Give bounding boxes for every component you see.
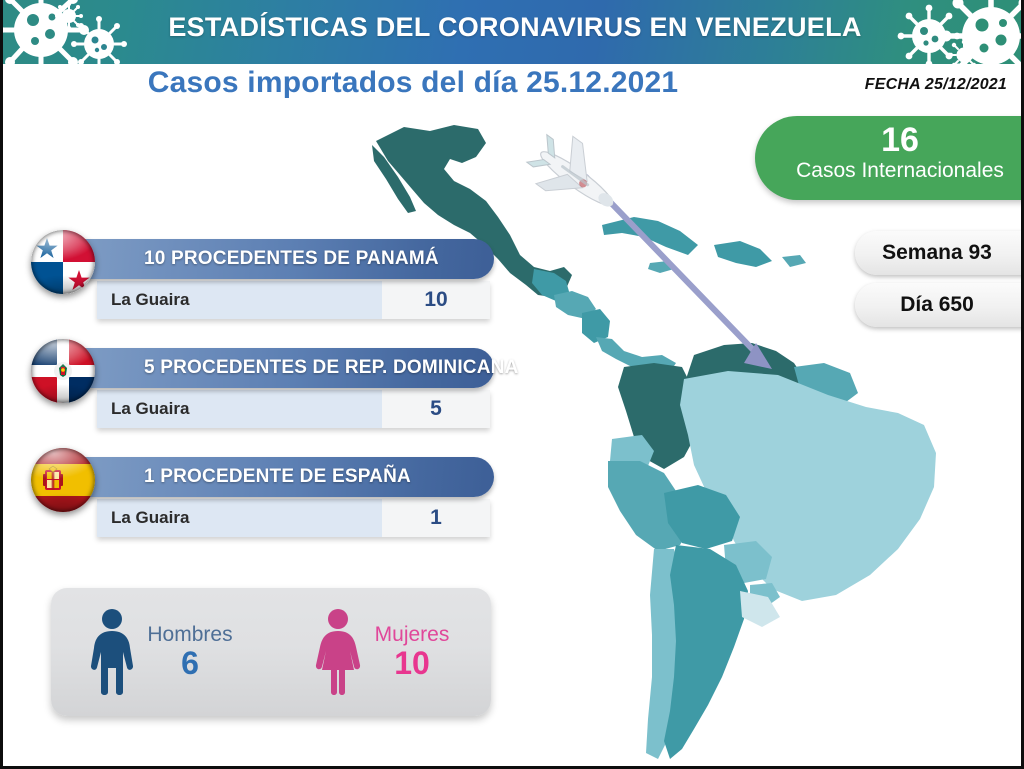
gender-text-male: Hombres 6 bbox=[147, 623, 232, 681]
country-bar-dominican-republic: 5 PROCEDENTES DE REP. DOMINICANA bbox=[79, 348, 494, 388]
day-badge: Día 650 bbox=[855, 283, 1024, 327]
map-hispaniola bbox=[714, 241, 772, 267]
gender-statistics-panel: Hombres 6 Mujeres 10 bbox=[51, 588, 491, 716]
coronavirus-icon bbox=[949, 40, 979, 64]
international-cases-number: 16 bbox=[755, 122, 1024, 158]
spain-flag-icon bbox=[31, 448, 95, 512]
state-row: La Guaira 10 bbox=[97, 281, 490, 319]
page-title: ESTADÍSTICAS DEL CORONAVIRUS EN VENEZUEL… bbox=[3, 12, 1024, 43]
gender-cell-female: Mujeres 10 bbox=[271, 608, 491, 696]
panama-flag-icon bbox=[31, 230, 95, 294]
country-bar-spain: 1 PROCEDENTE DE ESPAÑA bbox=[79, 457, 494, 497]
header-banner: ESTADÍSTICAS DEL CORONAVIRUS EN VENEZUEL… bbox=[3, 0, 1024, 64]
country-bar-panama: 10 PROCEDENTES DE PANAMÁ bbox=[79, 239, 494, 279]
country-bar-label: 1 PROCEDENTE DE ESPAÑA bbox=[144, 466, 411, 488]
arrow-to-venezuela-icon bbox=[586, 177, 772, 369]
gender-label-female: Mujeres bbox=[375, 623, 450, 646]
international-cases-box: 16 Casos Internacionales bbox=[755, 116, 1024, 200]
map-nicaragua bbox=[582, 309, 610, 343]
state-count: 10 bbox=[382, 281, 490, 319]
map-country-argentina bbox=[664, 545, 748, 759]
male-figure-icon bbox=[89, 608, 135, 696]
state-name: La Guaira bbox=[97, 390, 382, 428]
date-label: FECHA 25/12/2021 bbox=[865, 76, 1007, 94]
state-row: La Guaira 1 bbox=[97, 499, 490, 537]
week-badge: Semana 93 bbox=[855, 231, 1024, 275]
female-figure-icon bbox=[313, 608, 363, 696]
gender-value-male: 6 bbox=[147, 646, 232, 681]
subtitle: Casos importados del día 25.12.2021 bbox=[3, 66, 823, 100]
gender-cell-male: Hombres 6 bbox=[51, 608, 271, 696]
country-bar-label: 10 PROCEDENTES DE PANAMÁ bbox=[144, 248, 439, 270]
gender-value-female: 10 bbox=[375, 646, 450, 681]
state-row: La Guaira 5 bbox=[97, 390, 490, 428]
infographic-poster: ESTADÍSTICAS DEL CORONAVIRUS EN VENEZUEL… bbox=[0, 0, 1024, 769]
gender-text-female: Mujeres 10 bbox=[375, 623, 450, 681]
state-count: 5 bbox=[382, 390, 490, 428]
state-name: La Guaira bbox=[97, 499, 382, 537]
airplane-icon bbox=[520, 123, 631, 227]
state-name: La Guaira bbox=[97, 281, 382, 319]
international-cases-label: Casos Internacionales bbox=[755, 158, 1024, 184]
country-bar-label: 5 PROCEDENTES DE REP. DOMINICANA bbox=[144, 357, 519, 379]
gender-label-male: Hombres bbox=[147, 623, 232, 646]
dominican-republic-flag-icon bbox=[31, 339, 95, 403]
map-puertorico bbox=[782, 255, 806, 267]
map-cuba bbox=[602, 217, 698, 255]
state-count: 1 bbox=[382, 499, 490, 537]
